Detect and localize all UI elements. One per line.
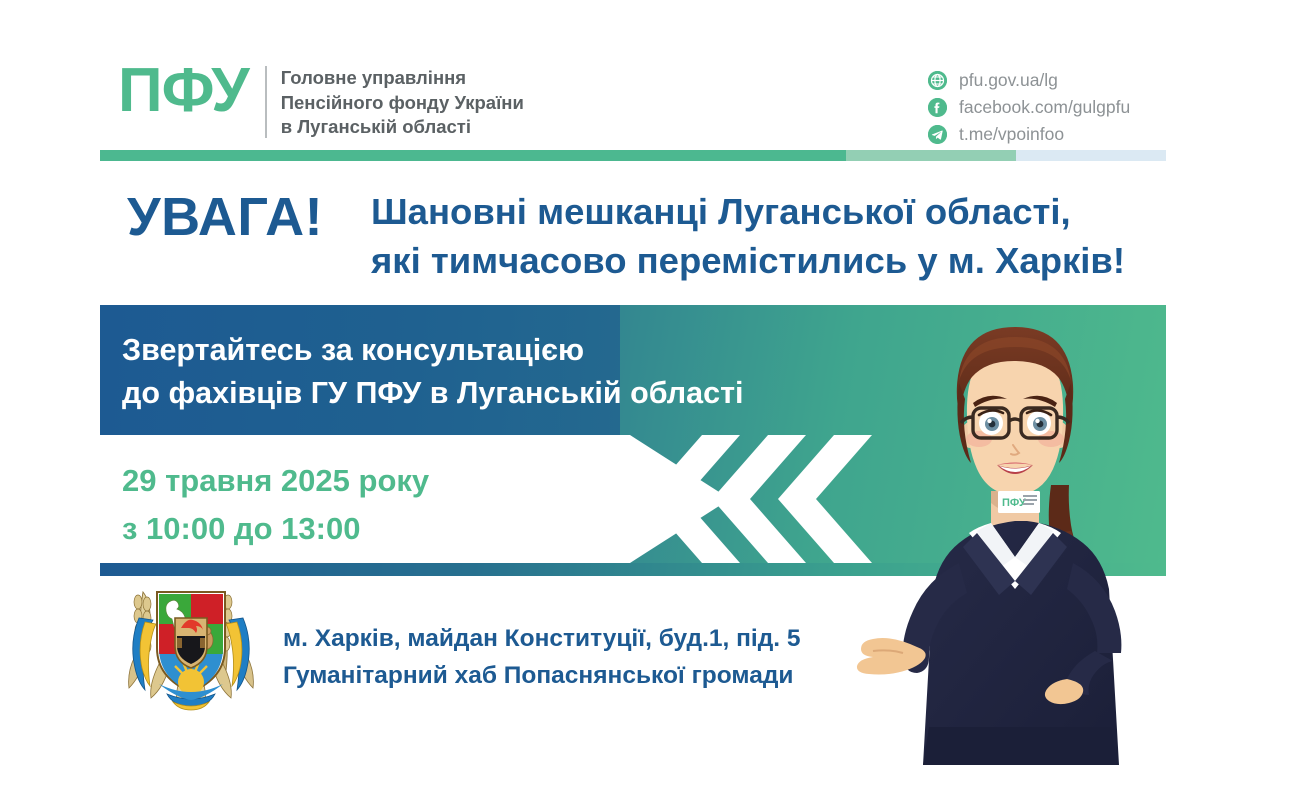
- telegram-icon: [928, 125, 947, 144]
- event-datetime: 29 травня 2025 року з 10:00 до 13:00: [122, 457, 429, 553]
- venue-address: м. Харків, майдан Конституції, буд.1, пі…: [283, 620, 801, 694]
- contact-list: pfu.gov.ua/lg facebook.com/gulgpfu: [928, 68, 1130, 149]
- contact-label-facebook: facebook.com/gulgpfu: [959, 99, 1130, 117]
- event-date: 29 травня 2025 року: [122, 457, 429, 505]
- logo-subtitle-line-3: в Луганській області: [281, 115, 524, 140]
- poster-header: ПФУ Головне управління Пенсійного фонду …: [0, 0, 1296, 160]
- contact-label-telegram: t.me/vpoinfoo: [959, 126, 1064, 144]
- logo-divider: [265, 66, 267, 138]
- contact-row-website[interactable]: pfu.gov.ua/lg: [928, 68, 1130, 93]
- contact-label-website: pfu.gov.ua/lg: [959, 72, 1058, 90]
- header-rule-green: [100, 150, 846, 161]
- banner-message-line-2: до фахівців ГУ ПФУ в Луганській області: [122, 372, 744, 415]
- headline-text: Шановні мешканці Луганської області, які…: [371, 187, 1125, 286]
- logo-mark-text: ПФУ: [118, 62, 249, 121]
- banner-message-line-1: Звертайтесь за консультацією: [122, 329, 744, 372]
- contact-row-facebook[interactable]: facebook.com/gulgpfu: [928, 95, 1130, 120]
- facebook-icon: [928, 98, 947, 117]
- header-rule-pale-blue: [1016, 150, 1166, 161]
- headline-line-1: Шановні мешканці Луганської області,: [371, 187, 1125, 236]
- logo-subtitle-line-2: Пенсійного фонду України: [281, 91, 524, 116]
- header-rule-light-green: [846, 150, 1016, 161]
- address-line-1: м. Харків, майдан Конституції, буд.1, пі…: [283, 620, 801, 657]
- headline-line-2: які тимчасово перемістились у м. Харків!: [371, 236, 1125, 285]
- banner-message: Звертайтесь за консультацією до фахівців…: [122, 329, 744, 416]
- coat-of-arms-popasna: [115, 578, 267, 718]
- poster-root: ПФУ Головне управління Пенсійного фонду …: [0, 0, 1296, 809]
- woman-consultant-illustration: [855, 295, 1185, 765]
- attention-label: УВАГА!: [127, 190, 323, 244]
- contact-row-telegram[interactable]: t.me/vpoinfoo: [928, 122, 1130, 147]
- event-time: з 10:00 до 13:00: [122, 505, 429, 553]
- logo-subtitle: Головне управління Пенсійного фонду Укра…: [281, 66, 524, 140]
- pfu-logo: ПФУ Головне управління Пенсійного фонду …: [118, 62, 524, 140]
- globe-icon: [928, 71, 947, 90]
- address-line-2: Гуманітарний хаб Попаснянської громади: [283, 657, 801, 694]
- logo-subtitle-line-1: Головне управління: [281, 66, 524, 91]
